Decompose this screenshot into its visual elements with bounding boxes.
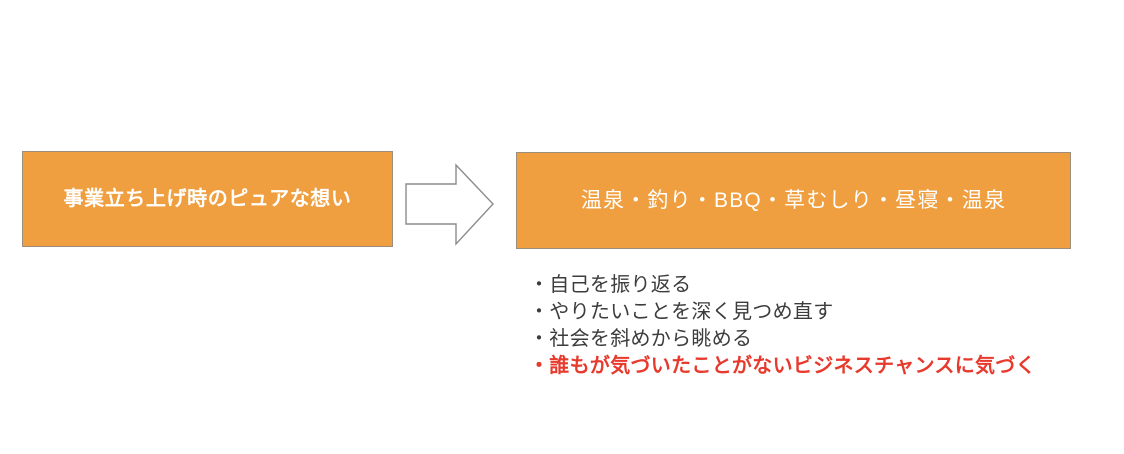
right-activities-box-label: 温泉・釣り・BBQ・草むしり・昼寝・温泉 — [581, 188, 1006, 213]
right-block-arrow-icon — [402, 160, 497, 250]
bullet-item-1: ・自己を振り返る — [529, 272, 1049, 299]
bullet-item-3: ・社会を斜めから眺める — [529, 326, 1049, 353]
arrow-shape — [406, 165, 493, 244]
left-concept-box-label: 事業立ち上げ時のピュアな想い — [64, 187, 352, 211]
bullet-list: ・自己を振り返る ・やりたいことを深く見つめ直す ・社会を斜めから眺める ・誰も… — [529, 272, 1049, 380]
slide-canvas: 事業立ち上げ時のピュアな想い 温泉・釣り・BBQ・草むしり・昼寝・温泉 ・自己を… — [0, 0, 1124, 454]
left-concept-box: 事業立ち上げ時のピュアな想い — [22, 151, 393, 247]
bullet-item-2: ・やりたいことを深く見つめ直す — [529, 299, 1049, 326]
right-block-arrow-svg — [402, 160, 497, 250]
right-activities-box: 温泉・釣り・BBQ・草むしり・昼寝・温泉 — [516, 152, 1071, 249]
bullet-item-4-highlighted: ・誰もが気づいたことがないビジネスチャンスに気づく — [529, 353, 1049, 380]
